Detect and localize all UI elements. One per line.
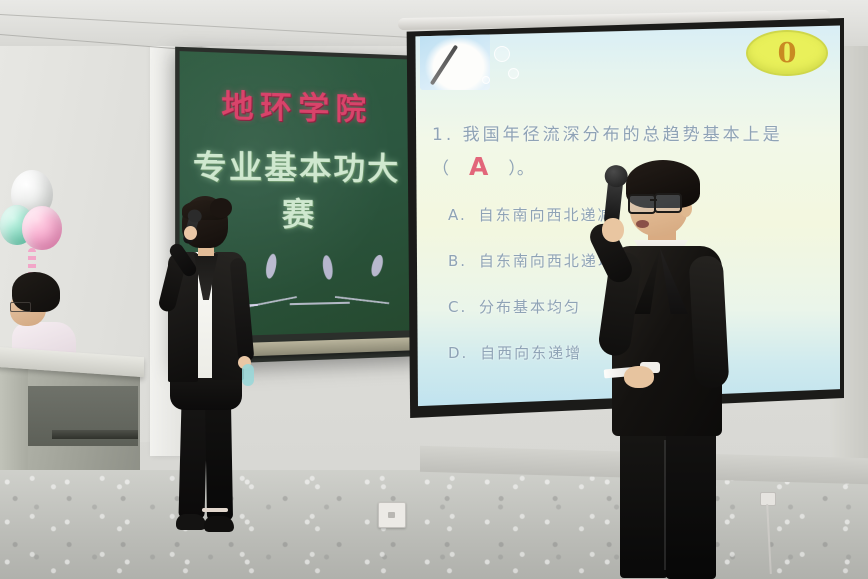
male-hand-right [624, 366, 654, 388]
score-value: 0 [778, 38, 797, 69]
trouser-crease [664, 440, 666, 570]
option-letter: B. [448, 252, 467, 270]
blackboard-title: 地环学院 [191, 79, 401, 130]
male-arm-right [689, 255, 730, 389]
bubble-icon [482, 76, 490, 84]
question-text: 1. 我国年径流深分布的总趋势基本上是 [432, 120, 832, 145]
female-presenter [150, 196, 260, 544]
male-leg [620, 426, 668, 578]
paren-open: （ [432, 154, 449, 179]
glasses-icon [10, 302, 31, 312]
option-letter: D. [448, 344, 468, 362]
option-text: 分布基本均匀 [479, 298, 581, 316]
male-leg [666, 426, 716, 579]
seated-audience-member [6, 272, 80, 360]
bubble-icon [494, 46, 510, 62]
option-letter: C. [448, 298, 467, 316]
glasses-lens-right [654, 193, 682, 213]
female-leg [205, 402, 233, 520]
male-hand-left [602, 218, 624, 242]
shoe-strap [202, 508, 228, 512]
bubble-icon [508, 68, 519, 79]
glasses-lens-left [628, 194, 656, 214]
female-held-object [242, 364, 254, 386]
female-leg [178, 402, 207, 519]
ceiling-grid-line [0, 14, 429, 39]
slide-decor-photo [420, 32, 490, 90]
pen-icon [430, 45, 458, 86]
male-presenter [576, 160, 756, 579]
glasses-bridge [650, 199, 657, 201]
female-hair-bun [210, 198, 232, 218]
wall-outlet [378, 502, 406, 528]
classroom-scene: 地环学院 专业基本功大赛 0 1. 我国年径流深分布的 [0, 0, 868, 579]
female-hand-left [184, 226, 197, 240]
female-shoe [204, 516, 234, 532]
option-letter: A. [448, 206, 467, 224]
female-shoe [176, 514, 206, 530]
balloon-pink [22, 206, 62, 250]
male-mouth [636, 220, 649, 228]
option-text: 自西向东递增 [480, 344, 582, 362]
answer-value: A [453, 152, 504, 181]
score-badge: 0 [746, 30, 828, 76]
podium-rail [52, 430, 138, 439]
paren-close: ）。 [508, 154, 534, 179]
